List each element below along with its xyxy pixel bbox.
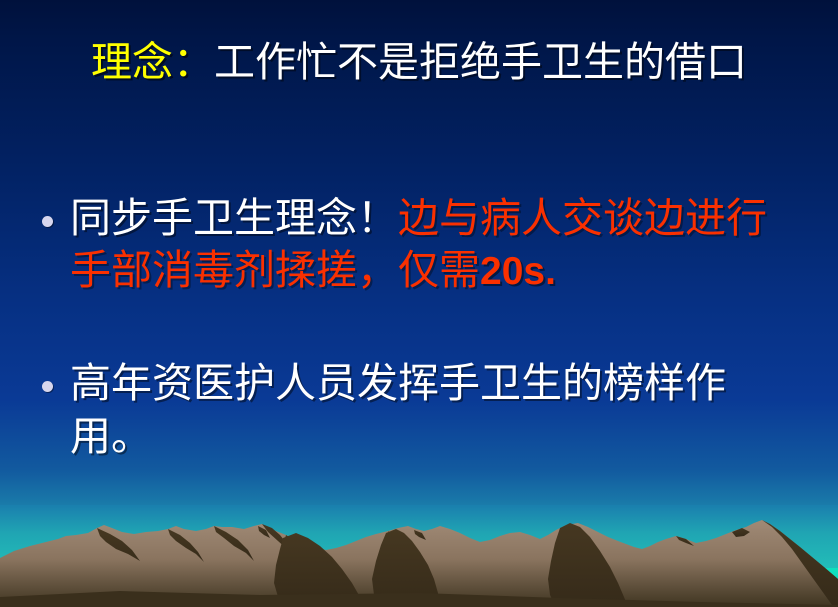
list-item: 同步手卫生理念！边与病人交谈边进行手部消毒剂揉搓，仅需20s. xyxy=(36,192,806,297)
bullet-dot-icon xyxy=(42,381,53,392)
bullet-dot-icon xyxy=(42,216,53,227)
bullet-2-white: 高年资医护人员发挥手卫生的榜样作用。 xyxy=(70,360,726,458)
bullet-1-red-number: 20s. xyxy=(480,250,556,293)
bullet-text-1: 同步手卫生理念！边与病人交谈边进行手部消毒剂揉搓，仅需20s. xyxy=(70,192,806,297)
list-item: 高年资医护人员发挥手卫生的榜样作用。 xyxy=(36,357,806,462)
bullet-1-white: 同步手卫生理念！ xyxy=(70,195,398,241)
mountain-range-graphic xyxy=(0,505,838,607)
title-keyword: 理念： xyxy=(91,39,214,85)
bullet-list: 同步手卫生理念！边与病人交谈边进行手部消毒剂揉搓，仅需20s. 高年资医护人员发… xyxy=(36,192,806,462)
bullet-text-2: 高年资医护人员发挥手卫生的榜样作用。 xyxy=(70,357,806,462)
slide-canvas: 理念：工作忙不是拒绝手卫生的借口 同步手卫生理念！边与病人交谈边进行手部消毒剂揉… xyxy=(0,0,838,607)
title-rest: 工作忙不是拒绝手卫生的借口 xyxy=(214,39,747,85)
page-title: 理念：工作忙不是拒绝手卫生的借口 xyxy=(0,40,838,86)
